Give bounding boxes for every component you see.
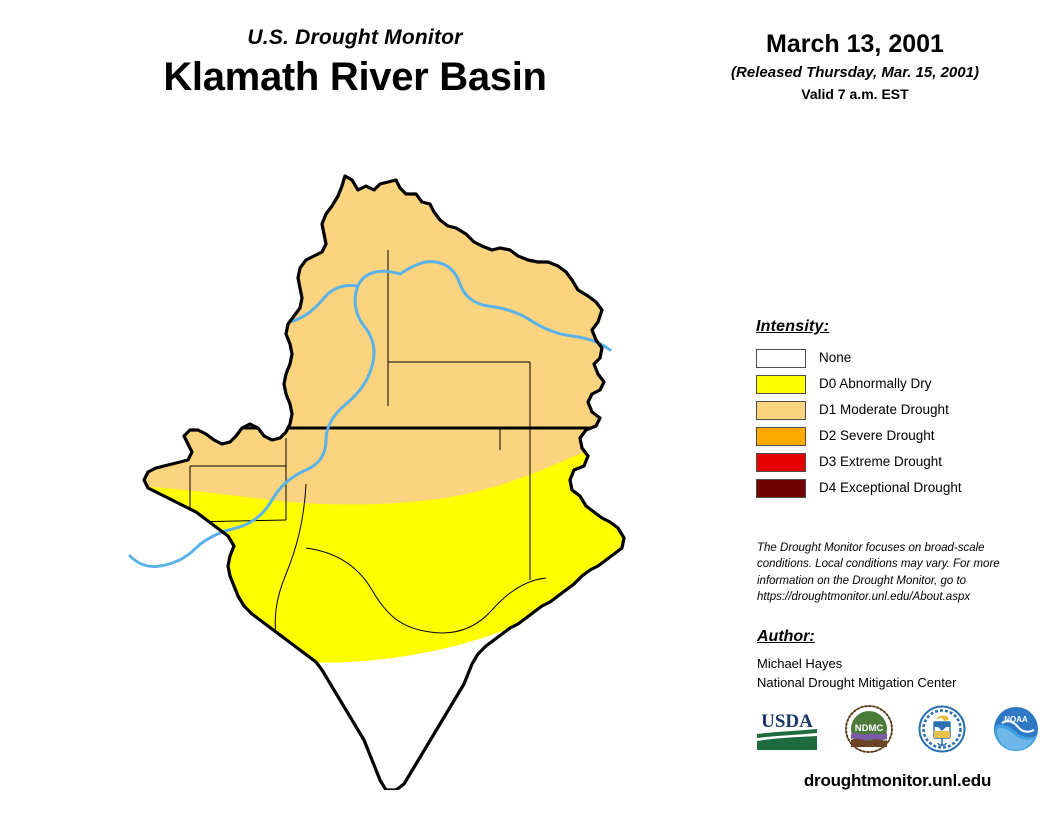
- legend-item-d0: D0 Abnormally Dry: [756, 371, 1036, 397]
- page-subtitle: U.S. Drought Monitor: [105, 26, 605, 49]
- site-url[interactable]: droughtmonitor.unl.edu: [750, 771, 1045, 791]
- logo-row: USDA NDMC: [755, 705, 1040, 757]
- legend-label-d0: D0 Abnormally Dry: [819, 377, 932, 391]
- legend-label-d3: D3 Extreme Drought: [819, 455, 942, 469]
- usda-logo: USDA: [755, 707, 819, 756]
- map-fill-layer: [100, 150, 720, 790]
- drought-map: [100, 150, 720, 790]
- noaa-logo-text: NOAA: [1004, 715, 1028, 724]
- disclaimer-url[interactable]: https://droughtmonitor.unl.edu/About.asp…: [757, 589, 1025, 605]
- legend: Intensity: None D0 Abnormally Dry D1 Mod…: [756, 318, 1036, 501]
- disclaimer-line-3: information on the Drought Monitor, go t…: [757, 573, 1025, 589]
- author-organization: National Drought Mitigation Center: [757, 674, 1037, 693]
- map-date: March 13, 2001: [700, 30, 1010, 59]
- legend-swatch-d0: [756, 375, 806, 394]
- legend-swatch-none: [756, 349, 806, 368]
- map-release-date: (Released Thursday, Mar. 15, 2001): [700, 64, 1010, 81]
- ndmc-logo: NDMC: [845, 705, 893, 758]
- map-valid-time: Valid 7 a.m. EST: [700, 86, 1010, 102]
- legend-swatch-d2: [756, 427, 806, 446]
- legend-item-none: None: [756, 345, 1036, 371]
- legend-swatch-d1: [756, 401, 806, 420]
- page-title: Klamath River Basin: [105, 54, 605, 100]
- legend-label-d1: D1 Moderate Drought: [819, 403, 949, 417]
- author-name: Michael Hayes: [757, 655, 1037, 674]
- legend-item-d4: D4 Exceptional Drought: [756, 475, 1036, 501]
- legend-item-d1: D1 Moderate Drought: [756, 397, 1036, 423]
- disclaimer-line-2: conditions. Local conditions may vary. F…: [757, 556, 1025, 572]
- legend-item-d2: D2 Severe Drought: [756, 423, 1036, 449]
- date-block: March 13, 2001 (Released Thursday, Mar. …: [700, 30, 1010, 102]
- legend-label-d4: D4 Exceptional Drought: [819, 481, 962, 495]
- ndmc-logo-text: NDMC: [854, 723, 883, 734]
- disclaimer: The Drought Monitor focuses on broad-sca…: [757, 540, 1025, 605]
- author-block: Author: Michael Hayes National Drought M…: [757, 628, 1037, 693]
- author-title: Author:: [757, 628, 1037, 646]
- legend-title: Intensity:: [756, 318, 1036, 336]
- usda-logo-text: USDA: [761, 711, 813, 732]
- legend-swatch-d3: [756, 453, 806, 472]
- legend-label-d2: D2 Severe Drought: [819, 429, 935, 443]
- disclaimer-line-1: The Drought Monitor focuses on broad-sca…: [757, 540, 1025, 556]
- usdc-seal-logo: [918, 705, 966, 758]
- title-block: U.S. Drought Monitor Klamath River Basin: [105, 26, 605, 100]
- noaa-logo: NOAA: [992, 705, 1040, 758]
- legend-label-none: None: [819, 351, 851, 365]
- legend-item-d3: D3 Extreme Drought: [756, 449, 1036, 475]
- legend-swatch-d4: [756, 479, 806, 498]
